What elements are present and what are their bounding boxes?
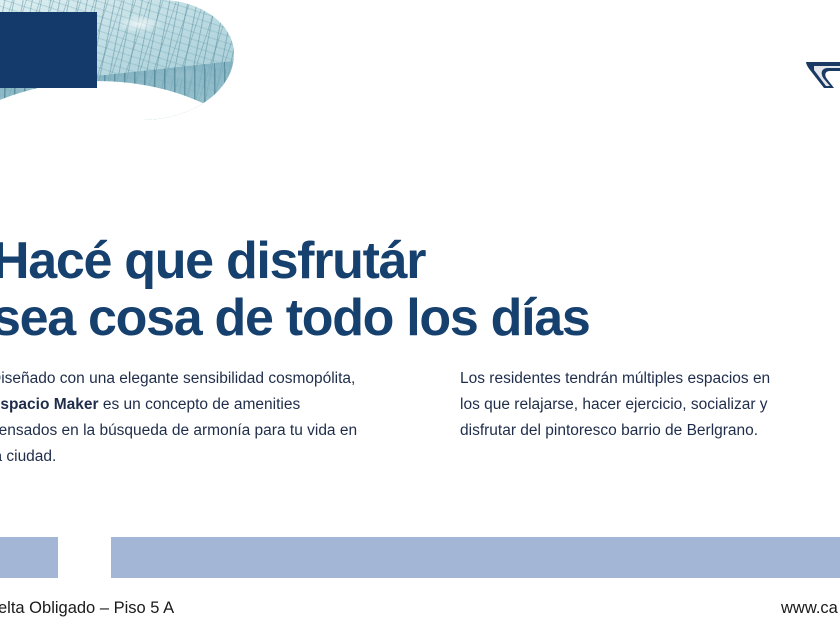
footer-rule-long — [111, 537, 840, 578]
presentation-slide: Hacé que disfrutársea cosa de todo los d… — [0, 0, 840, 630]
headline-line-2: sea cosa de todo los días — [0, 290, 840, 347]
body-paragraph-left: Diseñado con una elegante sensibilidad c… — [0, 366, 366, 470]
body-paragraph-right: Los residentes tendrán múltiples espacio… — [460, 366, 790, 444]
footer-website[interactable]: www.ca — [781, 597, 838, 619]
body-left-text-before-bold: Diseñado con una elegante sensibilidad c… — [0, 370, 355, 387]
slide-headline: Hacé que disfrutársea cosa de todo los d… — [0, 233, 840, 347]
headline-line-1: Hacé que disfrutár — [0, 232, 425, 290]
hero-decoration-group — [0, 0, 238, 124]
footer-address: elta Obligado – Piso 5 A — [0, 597, 174, 619]
brand-chevron-logo — [804, 58, 840, 94]
body-left-bold-term: Espacio Maker — [0, 396, 99, 413]
navy-accent-block — [0, 12, 97, 88]
brand-chevron-icon — [804, 58, 840, 94]
footer-rule-short — [0, 537, 58, 578]
body-columns: Diseñado con una elegante sensibilidad c… — [0, 350, 840, 470]
